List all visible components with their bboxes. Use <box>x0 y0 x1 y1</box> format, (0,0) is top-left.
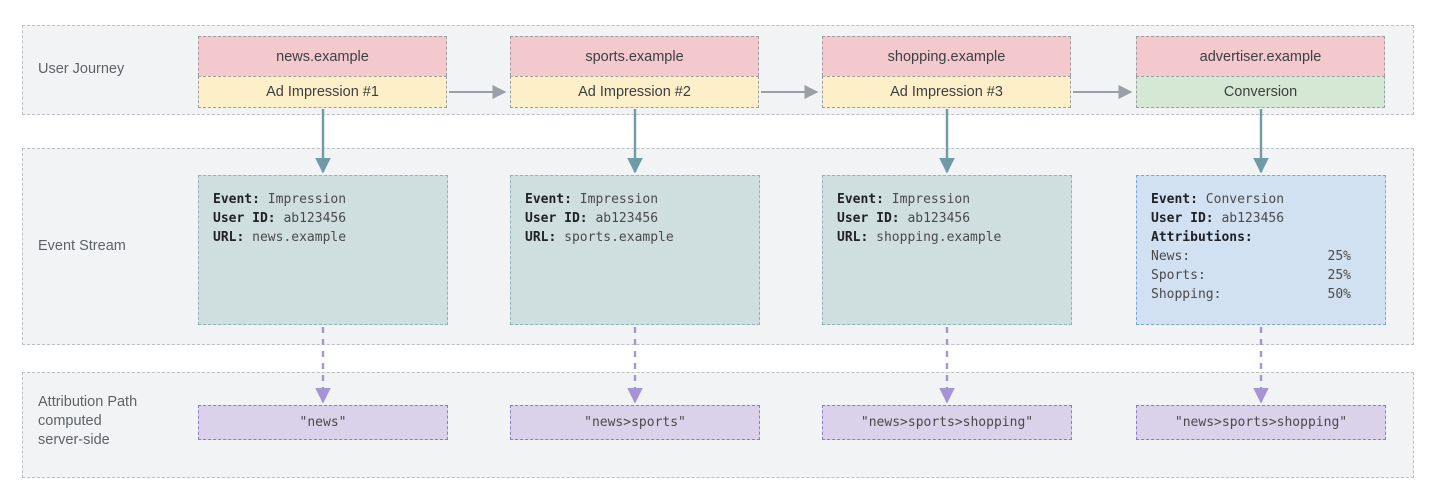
attribution-label: News: <box>1151 247 1190 266</box>
event-key: Event: <box>837 192 884 207</box>
event-value: Impression <box>260 192 346 207</box>
event-line: URL: shopping.example <box>837 228 1057 247</box>
event-value: ab123456 <box>900 211 970 226</box>
event-box-3[interactable]: Event: Impression User ID: ab123456 URL:… <box>822 175 1072 325</box>
event-line: Event: Impression <box>525 190 745 209</box>
journey-action-1: Ad Impression #1 <box>198 76 447 108</box>
event-line: User ID: ab123456 <box>525 209 745 228</box>
lane-label-user-journey: User Journey <box>38 60 124 79</box>
event-key: User ID: <box>525 211 588 226</box>
attribution-value: 25% <box>1328 266 1351 285</box>
event-key: Event: <box>525 192 572 207</box>
event-box-2[interactable]: Event: Impression User ID: ab123456 URL:… <box>510 175 760 325</box>
journey-domain-1: news.example <box>198 36 447 76</box>
event-box-1[interactable]: Event: Impression User ID: ab123456 URL:… <box>198 175 448 325</box>
journey-domain-2: sports.example <box>510 36 759 76</box>
event-line: Attributions: <box>1151 228 1371 247</box>
diagram-canvas: User Journey Event Stream Attribution Pa… <box>0 0 1436 504</box>
attribution-row-news: News: 25% <box>1151 247 1351 266</box>
event-line: User ID: ab123456 <box>1151 209 1371 228</box>
journey-action-2: Ad Impression #2 <box>510 76 759 108</box>
event-value: Conversion <box>1198 192 1284 207</box>
event-line: URL: sports.example <box>525 228 745 247</box>
event-key: Event: <box>1151 192 1198 207</box>
event-value: sports.example <box>556 230 673 245</box>
event-value: Impression <box>572 192 658 207</box>
attribution-row-sports: Sports: 25% <box>1151 266 1351 285</box>
event-line: User ID: ab123456 <box>213 209 433 228</box>
lane-label-event-stream: Event Stream <box>38 237 126 256</box>
attribution-path-box-2[interactable]: "news>sports" <box>510 405 760 440</box>
event-box-4-conversion[interactable]: Event: Conversion User ID: ab123456 Attr… <box>1136 175 1386 325</box>
event-value: news.example <box>244 230 346 245</box>
event-key: Attributions: <box>1151 230 1253 245</box>
event-key: URL: <box>525 230 556 245</box>
event-line: URL: news.example <box>213 228 433 247</box>
lane-label-attribution-path: Attribution Path computed server-side <box>38 393 137 450</box>
journey-card-3[interactable]: shopping.example Ad Impression #3 <box>822 36 1071 108</box>
event-value: ab123456 <box>588 211 658 226</box>
event-line: Event: Impression <box>213 190 433 209</box>
event-key: User ID: <box>1151 211 1214 226</box>
event-line: User ID: ab123456 <box>837 209 1057 228</box>
journey-domain-4: advertiser.example <box>1136 36 1385 76</box>
attribution-value: 50% <box>1328 285 1351 304</box>
journey-card-2[interactable]: sports.example Ad Impression #2 <box>510 36 759 108</box>
attribution-row-shopping: Shopping: 50% <box>1151 285 1351 304</box>
event-key: URL: <box>213 230 244 245</box>
event-value: shopping.example <box>868 230 1001 245</box>
attribution-path-box-4[interactable]: "news>sports>shopping" <box>1136 405 1386 440</box>
event-key: URL: <box>837 230 868 245</box>
attribution-path-box-1[interactable]: "news" <box>198 405 448 440</box>
event-line: Event: Impression <box>837 190 1057 209</box>
attribution-label: Sports: <box>1151 266 1206 285</box>
attribution-path-box-3[interactable]: "news>sports>shopping" <box>822 405 1072 440</box>
journey-card-4[interactable]: advertiser.example Conversion <box>1136 36 1385 108</box>
event-key: User ID: <box>213 211 276 226</box>
journey-action-4: Conversion <box>1136 76 1385 108</box>
journey-card-1[interactable]: news.example Ad Impression #1 <box>198 36 447 108</box>
attribution-value: 25% <box>1328 247 1351 266</box>
event-line: Event: Conversion <box>1151 190 1371 209</box>
event-value: Impression <box>884 192 970 207</box>
journey-action-3: Ad Impression #3 <box>822 76 1071 108</box>
event-value: ab123456 <box>276 211 346 226</box>
attribution-label: Shopping: <box>1151 285 1221 304</box>
event-key: Event: <box>213 192 260 207</box>
event-value: ab123456 <box>1214 211 1284 226</box>
journey-domain-3: shopping.example <box>822 36 1071 76</box>
event-key: User ID: <box>837 211 900 226</box>
